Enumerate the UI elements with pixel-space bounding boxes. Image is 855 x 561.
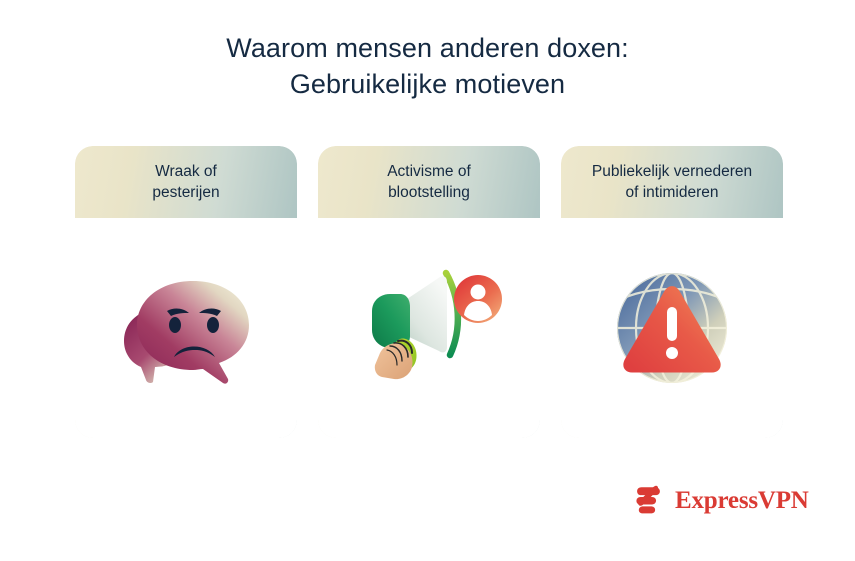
motive-card-revenge-title: Wraak of pesterijen [145, 161, 226, 203]
megaphone-with-avatar-icon [354, 263, 504, 393]
motive-card-activism-body [318, 218, 540, 438]
motive-card-activism-header: Activisme of blootstelling [318, 146, 540, 218]
globe-warning-icon [597, 263, 747, 393]
motive-card-humiliation-title: Publiekelijk vernederen of intimideren [585, 161, 759, 203]
motive-card-revenge: Wraak of pesterijen [75, 146, 297, 438]
motive-card-revenge-body [75, 218, 297, 438]
motive-card-humiliation-header: Publiekelijk vernederen of intimideren [561, 146, 783, 218]
motive-card-humiliation: Publiekelijk vernederen of intimideren [561, 146, 783, 438]
expressvpn-logo-mark [632, 483, 666, 517]
motive-card-activism: Activisme of blootstelling [318, 146, 540, 438]
motive-card-activism-title: Activisme of blootstelling [380, 161, 478, 203]
page-title: Waarom mensen anderen doxen: Gebruikelij… [0, 30, 855, 102]
motive-card-revenge-header: Wraak of pesterijen [75, 146, 297, 218]
infographic-canvas: Waarom mensen anderen doxen: Gebruikelij… [0, 0, 855, 561]
page-title-line-2: Gebruikelijke motieven [0, 66, 855, 102]
motives-card-row: Wraak of pesterijen [75, 146, 783, 438]
motive-card-humiliation-body [561, 218, 783, 438]
page-title-line-1: Waarom mensen anderen doxen: [0, 30, 855, 66]
angry-speech-bubble-icon [111, 263, 261, 393]
expressvpn-logo: ExpressVPN [632, 483, 809, 517]
expressvpn-wordmark: ExpressVPN [675, 488, 809, 513]
